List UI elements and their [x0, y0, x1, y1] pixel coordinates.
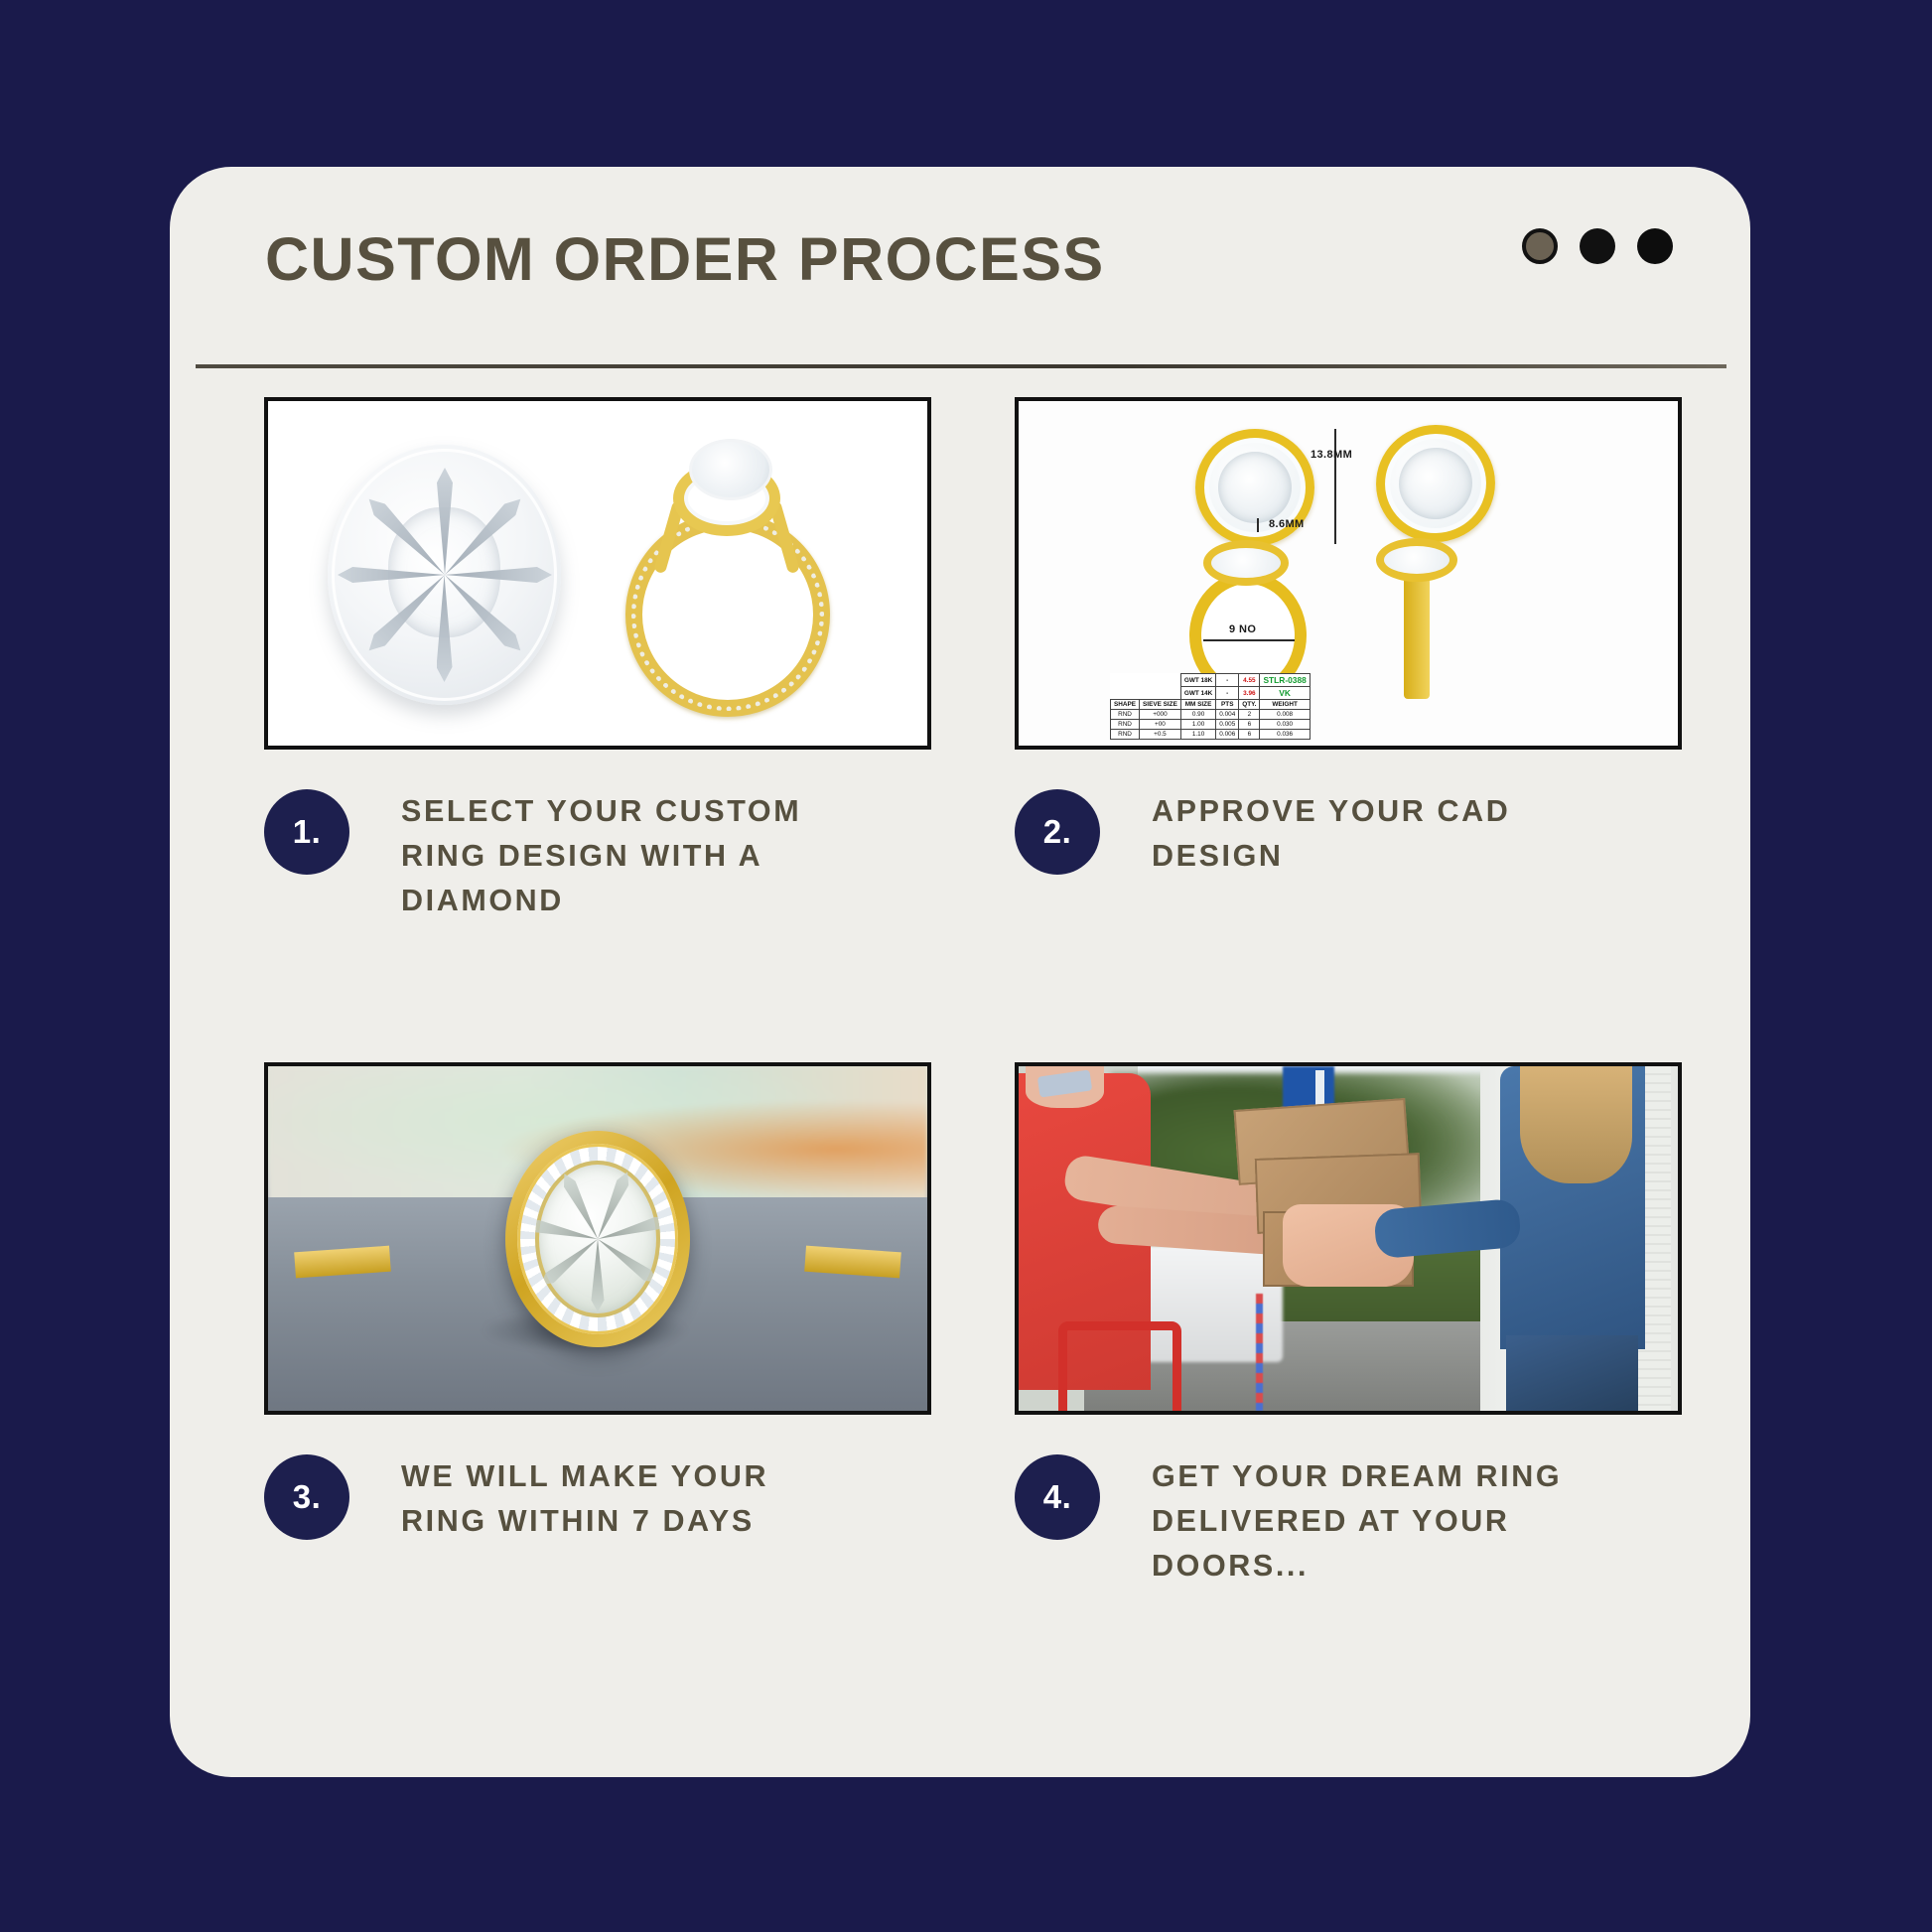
- step-3-caption: 3. WE WILL MAKE YOUR RING WITHIN 7 DAYS: [264, 1454, 931, 1544]
- cad-cell: RND: [1111, 720, 1140, 730]
- window-dot-black-2-icon[interactable]: [1637, 228, 1673, 264]
- cad-cell: 0.90: [1180, 710, 1215, 720]
- step-card-4: 4. GET YOUR DREAM RING DELIVERED AT YOUR…: [1015, 1062, 1682, 1588]
- window-dots: [1522, 228, 1673, 264]
- steps-row-1: 1. SELECT YOUR CUSTOM RING DESIGN WITH A…: [170, 397, 1750, 953]
- page-title: CUSTOM ORDER PROCESS: [265, 224, 1105, 294]
- cad-col-sieve: SIEVE SIZE: [1140, 700, 1181, 710]
- cad-cell: 6: [1239, 730, 1260, 740]
- cad-cell: 1.10: [1180, 730, 1215, 740]
- step-card-2: 13.8MM 8.6MM 9 NO: [1015, 397, 1682, 879]
- cad-cell: +000: [1140, 710, 1181, 720]
- cad-cell: +0.5: [1140, 730, 1181, 740]
- step-card-1: 1. SELECT YOUR CUSTOM RING DESIGN WITH A…: [264, 397, 931, 923]
- cad-gwt14k-dash: -: [1216, 687, 1239, 700]
- step-1-image: [264, 397, 931, 750]
- cad-col-mm: MM SIZE: [1180, 700, 1215, 710]
- steps-grid: 1. SELECT YOUR CUSTOM RING DESIGN WITH A…: [170, 397, 1750, 1618]
- step-card-3: 3. WE WILL MAKE YOUR RING WITHIN 7 DAYS: [264, 1062, 931, 1544]
- cad-cell: 0.036: [1260, 730, 1310, 740]
- cad-drawing: 13.8MM 8.6MM 9 NO: [1019, 401, 1678, 746]
- cad-cell: 0.030: [1260, 720, 1310, 730]
- cad-profile-halo: [1203, 540, 1289, 586]
- cad-cell: 0.008: [1260, 710, 1310, 720]
- cad-view-top-angled: [1365, 414, 1506, 553]
- cad-dim-stone-label: 8.6MM: [1269, 518, 1305, 530]
- cad-ring-size-label: 9 NO: [1229, 623, 1256, 635]
- cad-table-row: RND +000 0.90 0.004 2 0.008: [1111, 710, 1311, 720]
- finished-ring-photo: [268, 1066, 927, 1411]
- cad-gwt18k-label: GWT 18K: [1180, 674, 1215, 687]
- cad-cell: 1.00: [1180, 720, 1215, 730]
- cad-col-weight: WEIGHT: [1260, 700, 1310, 710]
- step-3-badge: 3.: [264, 1454, 349, 1540]
- content-card: CUSTOM ORDER PROCESS: [170, 167, 1750, 1777]
- cad-cell: 0.005: [1216, 720, 1239, 730]
- step-4-image: [1015, 1062, 1682, 1415]
- cad-gwt14k-value: 3.96: [1239, 687, 1260, 700]
- step-1-label: SELECT YOUR CUSTOM RING DESIGN WITH A DI…: [401, 789, 868, 923]
- cad-col-shape: SHAPE: [1111, 700, 1140, 710]
- step-4-label: GET YOUR DREAM RING DELIVERED AT YOUR DO…: [1152, 1454, 1618, 1588]
- cad-gwt18k-value: 4.55: [1239, 674, 1260, 687]
- cad-cell: RND: [1111, 710, 1140, 720]
- card-header: CUSTOM ORDER PROCESS: [170, 167, 1750, 365]
- loose-diamond-icon: [328, 445, 561, 705]
- cad-size-line: [1203, 639, 1295, 641]
- cad-dim-line-vertical: [1334, 429, 1336, 544]
- step-3-image: [264, 1062, 931, 1415]
- window-dot-olive-icon[interactable]: [1522, 228, 1558, 264]
- step-2-image: 13.8MM 8.6MM 9 NO: [1015, 397, 1682, 750]
- delivery-photo: [1019, 1066, 1678, 1411]
- cad-initials: VK: [1260, 687, 1310, 700]
- cad-table-row: RND +00 1.00 0.005 6 0.030: [1111, 720, 1311, 730]
- step-4-badge: 4.: [1015, 1454, 1100, 1540]
- poster-canvas: CUSTOM ORDER PROCESS: [0, 0, 1932, 1932]
- cad-table-header-row: SHAPE SIEVE SIZE MM SIZE PTS QTY. WEIGHT: [1111, 700, 1311, 710]
- cad-side-halo: [1376, 538, 1457, 582]
- cad-gwt18k-dash: -: [1216, 674, 1239, 687]
- cad-table-row: RND +0.5 1.10 0.006 6 0.036: [1111, 730, 1311, 740]
- cad-cell: 2: [1239, 710, 1260, 720]
- step-3-label: WE WILL MAKE YOUR RING WITHIN 7 DAYS: [401, 1454, 838, 1544]
- cad-style-code: STLR-0388: [1260, 674, 1310, 687]
- cad-view-side: [1404, 576, 1430, 699]
- step-1-badge: 1.: [264, 789, 349, 875]
- cad-gwt14k-label: GWT 14K: [1180, 687, 1215, 700]
- cad-cell: 0.004: [1216, 710, 1239, 720]
- cad-cell: 6: [1239, 720, 1260, 730]
- step-1-caption: 1. SELECT YOUR CUSTOM RING DESIGN WITH A…: [264, 789, 931, 923]
- cad-col-qty: QTY.: [1239, 700, 1260, 710]
- step-2-caption: 2. APPROVE YOUR CAD DESIGN: [1015, 789, 1682, 879]
- cad-cell: RND: [1111, 730, 1140, 740]
- gold-halo-ring-icon: [578, 427, 876, 725]
- cad-dim-tick: [1257, 518, 1259, 532]
- steps-row-2: 3. WE WILL MAKE YOUR RING WITHIN 7 DAYS: [170, 1062, 1750, 1618]
- step-2-label: APPROVE YOUR CAD DESIGN: [1152, 789, 1618, 879]
- cad-col-pts: PTS: [1216, 700, 1239, 710]
- cad-spec-table: GWT 18K - 4.55 STLR-0388 GWT 14K - 3.96: [1110, 673, 1311, 740]
- cad-dim-height-label: 13.8MM: [1311, 449, 1352, 461]
- diamond-and-ring-illustration: [268, 401, 927, 746]
- cad-cell: +00: [1140, 720, 1181, 730]
- step-4-caption: 4. GET YOUR DREAM RING DELIVERED AT YOUR…: [1015, 1454, 1682, 1588]
- step-2-badge: 2.: [1015, 789, 1100, 875]
- window-dot-black-icon[interactable]: [1580, 228, 1615, 264]
- cad-cell: 0.006: [1216, 730, 1239, 740]
- header-divider: [196, 364, 1726, 368]
